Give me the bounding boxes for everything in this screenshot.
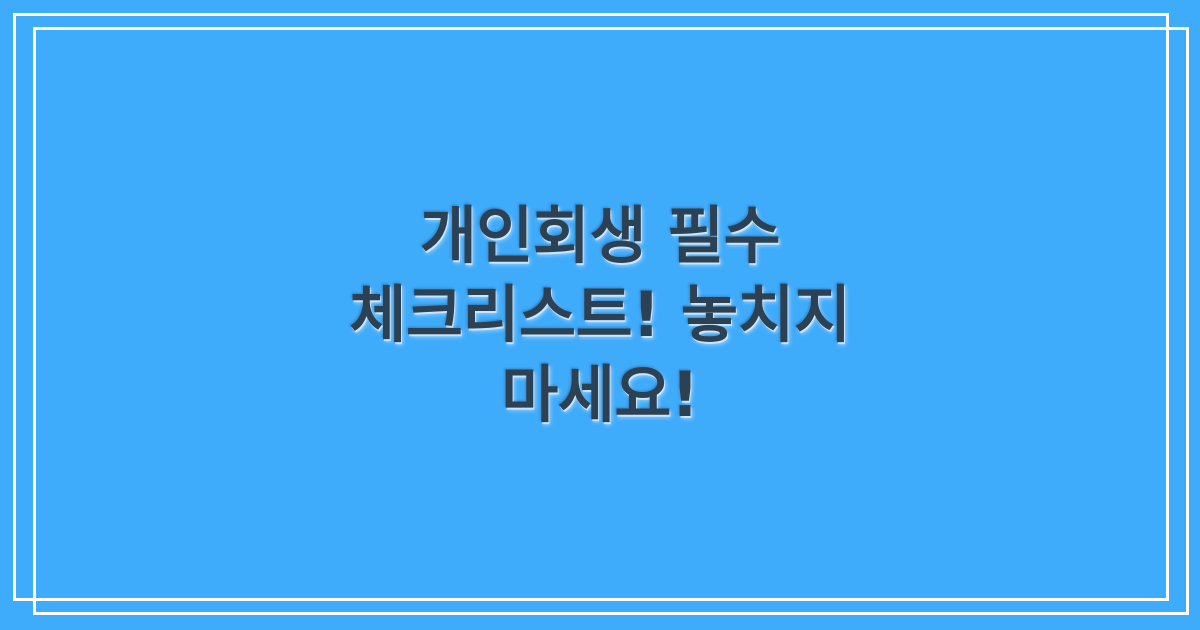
headline-container: 개인회생 필수 체크리스트! 놓치지 마세요! — [0, 0, 1200, 630]
banner-card: 개인회생 필수 체크리스트! 놓치지 마세요! — [0, 0, 1200, 630]
page-title: 개인회생 필수 체크리스트! 놓치지 마세요! — [349, 196, 850, 434]
